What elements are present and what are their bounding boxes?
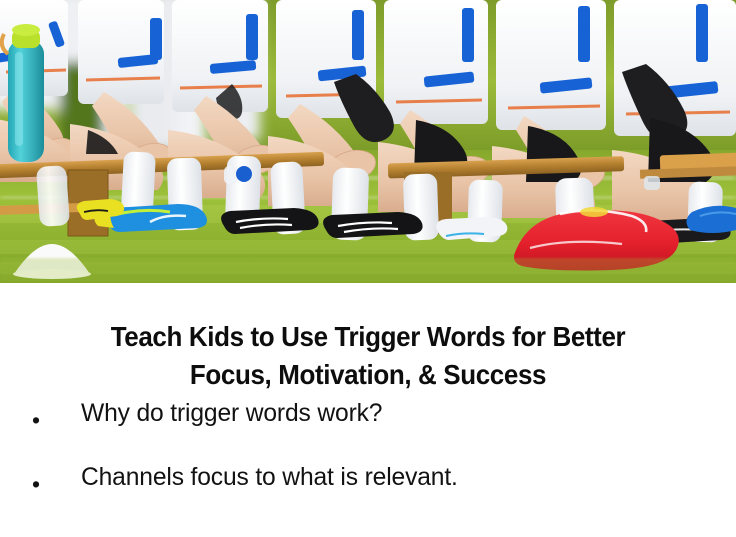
bullet-marker-icon: • [32, 405, 40, 435]
list-item: • Channels focus to what is relevant. [0, 460, 736, 524]
slide-text-area: Teach Kids to Use Trigger Words for Bett… [0, 283, 736, 537]
slide-photo [0, 0, 736, 283]
bullet-marker-icon: • [32, 469, 40, 499]
list-item: • Why do trigger words work? [0, 396, 736, 460]
page-title: Teach Kids to Use Trigger Words for Bett… [49, 318, 688, 394]
soccer-bench-photo-illustration [0, 0, 736, 283]
bullet-text: Why do trigger words work? [81, 396, 382, 430]
presentation-slide: Teach Kids to Use Trigger Words for Bett… [0, 0, 736, 537]
bullet-text: Channels focus to what is relevant. [81, 460, 458, 494]
bullet-list: • Why do trigger words work? • Channels … [0, 396, 736, 524]
title-line-1: Teach Kids to Use Trigger Words for Bett… [49, 318, 688, 356]
title-line-2: Focus, Motivation, & Success [49, 356, 688, 394]
